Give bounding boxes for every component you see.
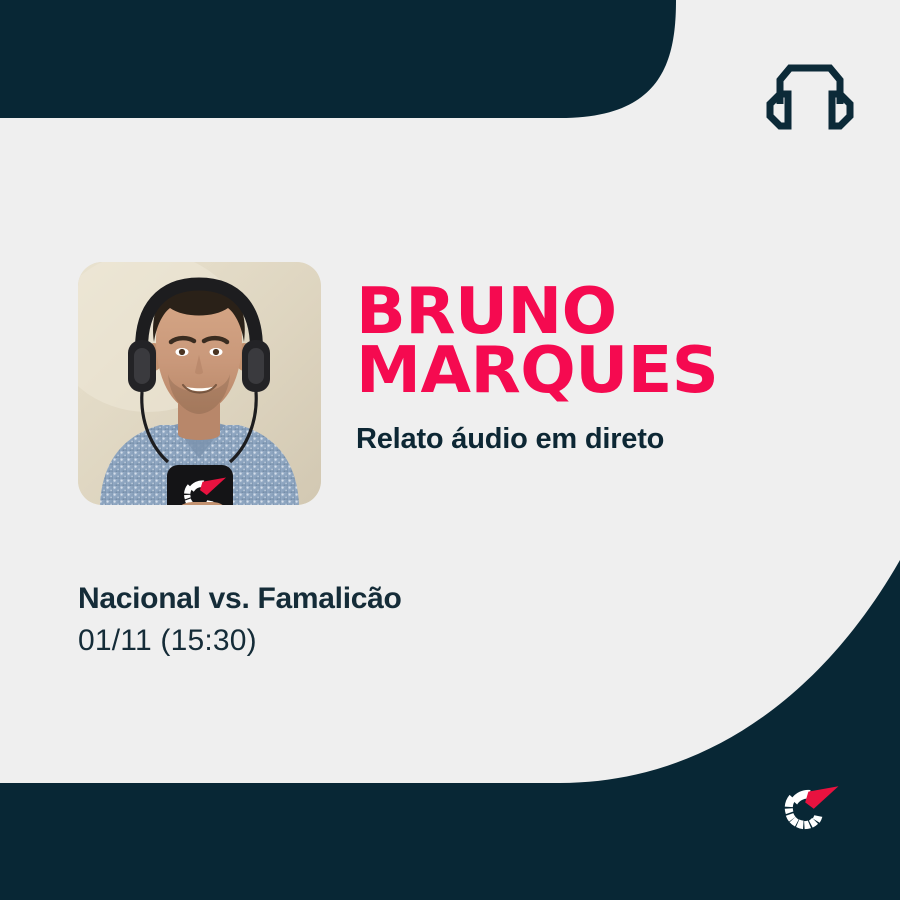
match-info-block: Nacional vs. Famalicão 01/11 (15:30) — [78, 582, 698, 658]
talent-photo — [78, 262, 321, 505]
top-dark-band — [0, 0, 676, 118]
talent-name: BRUNO MARQUES — [356, 283, 866, 401]
talent-name-block: BRUNO MARQUES Relato áudio em direto — [356, 283, 856, 456]
broadcast-promo-card: BRUNO MARQUES Relato áudio em direto Nac… — [0, 0, 900, 900]
match-fixture: Nacional vs. Famalicão — [78, 582, 698, 616]
match-datetime: 01/11 (15:30) — [78, 616, 698, 658]
headphones-icon — [766, 58, 854, 130]
talent-role: Relato áudio em direto — [356, 401, 856, 456]
brand-logo-icon — [778, 783, 842, 841]
talent-last-name: MARQUES — [356, 342, 866, 401]
